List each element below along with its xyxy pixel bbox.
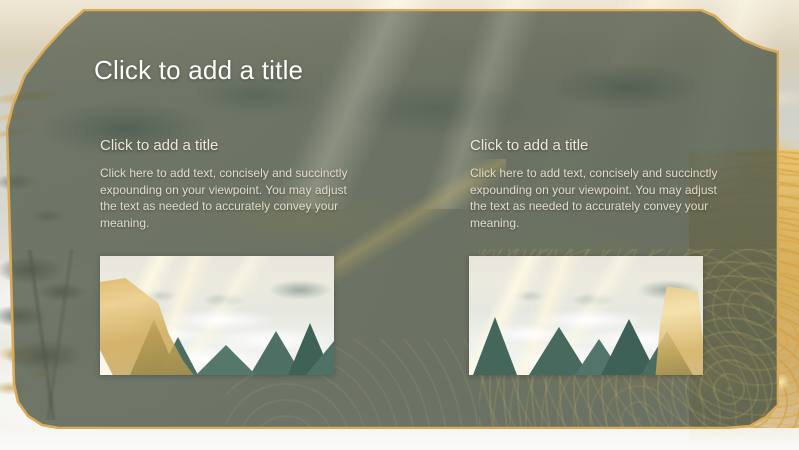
- column-title-left[interactable]: Click to add a title: [100, 137, 350, 154]
- image-placeholder-right[interactable]: [469, 256, 703, 375]
- peak: [306, 341, 334, 375]
- peak: [473, 317, 517, 375]
- content-column-left: Click to add a title Click here to add t…: [100, 137, 350, 231]
- image-placeholder-left[interactable]: [100, 256, 334, 375]
- column-body-left[interactable]: Click here to add text, concisely and su…: [100, 165, 350, 231]
- slide-canvas: Click to add a title Click to add a titl…: [0, 0, 799, 450]
- content-column-right: Click to add a title Click here to add t…: [470, 137, 720, 231]
- column-body-right[interactable]: Click here to add text, concisely and su…: [470, 165, 720, 231]
- page-title[interactable]: Click to add a title: [94, 55, 303, 86]
- background-bottom-strip: [0, 428, 799, 450]
- peak: [196, 345, 256, 375]
- column-title-right[interactable]: Click to add a title: [470, 137, 720, 154]
